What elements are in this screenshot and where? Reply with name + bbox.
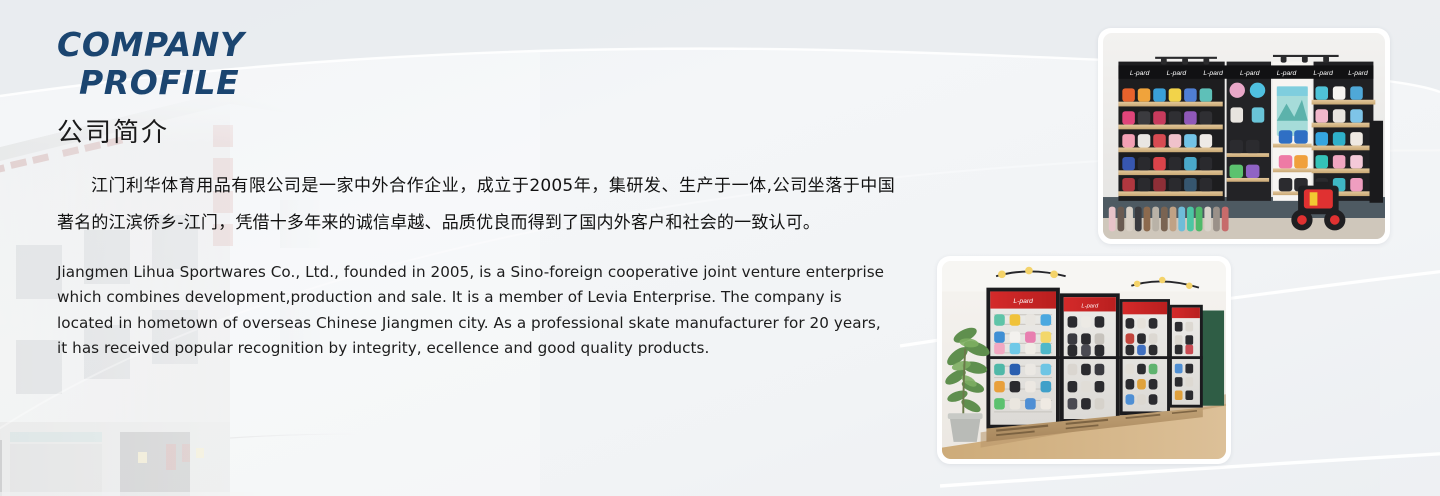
svg-text:L-pard: L-pard [1130,70,1150,77]
svg-text:L-pard: L-pard [1167,70,1187,77]
showroom-photo-1[interactable]: L-pard L-pard L-pard L-pard L-pard L-par… [1098,28,1390,244]
showroom-photo-1-frame: L-pard L-pard L-pard L-pard L-pard L-par… [1103,33,1385,239]
profile-text-column: COMPANY PROFILE 公司简介 江门利华体育用品有限公司是一家中外合作… [57,26,917,362]
showroom-photo-2[interactable]: L-pard [937,256,1231,464]
page-title-line1: COMPANY [57,25,245,64]
svg-text:L-pard: L-pard [1013,298,1033,305]
company-profile-section: COMPANY PROFILE 公司简介 江门利华体育用品有限公司是一家中外合作… [0,0,1440,496]
svg-text:L-pard: L-pard [1081,304,1099,310]
page-title-chinese: 公司简介 [57,112,917,149]
svg-text:L-pard: L-pard [1313,70,1333,77]
svg-text:L-pard: L-pard [1240,70,1260,77]
profile-paragraph-chinese: 江门利华体育用品有限公司是一家中外合作企业，成立于2005年，集研发、生产于一体… [57,168,895,242]
page-title-line2: PROFILE [57,64,917,102]
profile-paragraph-english: Jiangmen Lihua Sportwares Co., Ltd., fou… [57,260,889,362]
svg-text:L-pard: L-pard [1277,70,1297,77]
showroom-photo-2-frame: L-pard [942,261,1226,459]
page-title-english: COMPANY PROFILE [57,26,917,103]
svg-text:L-pard: L-pard [1203,70,1223,77]
svg-text:L-pard: L-pard [1348,70,1368,77]
